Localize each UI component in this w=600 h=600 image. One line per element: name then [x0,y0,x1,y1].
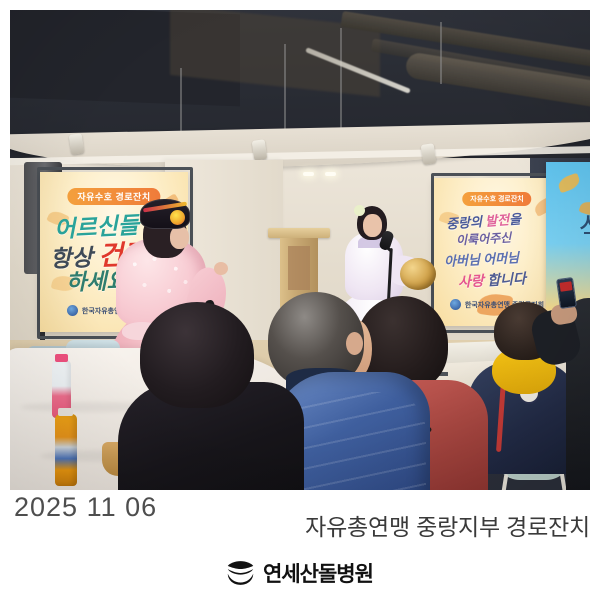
track-light-icon [252,139,268,161]
sogo-drum-prop [400,258,436,290]
track-light-icon [421,143,437,165]
photo-caption: 자유총연맹 중랑지부 경로잔치 [305,516,590,539]
downlight-icon [325,172,336,176]
performer-pink-hanbok-face [170,226,189,249]
audience-black-coat-head [140,302,254,408]
kfa-emblem-icon [67,305,78,316]
chair-leg [500,474,509,490]
event-photo: 자유수호 경로잔치 어르신들 항상 건강 하세요 한국자유총연맹 중랑구지회 자… [10,10,590,490]
downlight-icon [303,172,314,176]
bottle-orange-drink [55,414,77,486]
ginkgo-leaf-icon [556,173,581,194]
performer-white-hanbok-hair-flower [354,205,365,216]
ceiling-hanger-rod [340,28,342,132]
performer-pink-hanbok-hat-flower [170,210,185,225]
banner-right-pill: 자유수호 경로잔치 [462,192,531,206]
phone-screen [559,281,572,292]
banner-right-line2: 이룩어주신 [456,229,512,249]
screen-text: 식 [578,204,590,248]
ceiling-hanger-rod [284,44,286,134]
ceiling-hanger-rod [180,68,182,136]
podium-panel [288,246,310,290]
brand-footer: 연세산돌병원 [0,558,600,588]
banner-right: 자유수호 경로잔치 중랑의 발전을 이룩어주신 아버님 어머님 사랑 합니다 한… [434,178,560,326]
bottle-orange-cap [58,408,73,416]
ceiling-hanger-rod [440,22,442,84]
track-light-icon [69,133,85,155]
kfa-emblem-icon [450,299,461,310]
banner-right-line4: 사랑 합니다 [458,268,527,292]
banner-right-line3: 아버님 어머님 [444,247,520,270]
layered-leaf-logo-icon [227,560,254,586]
audience-blue-puffer-ear [346,332,363,355]
performer-pink-hanbok-hand [214,262,228,275]
performer-white-hanbok-face [363,214,382,237]
photo-canvas: 자유수호 경로잔치 어르신들 항상 건강 하세요 한국자유총연맹 중랑구지회 자… [10,10,590,490]
podium-top [268,228,330,238]
bottle-pink-cap [55,354,68,362]
photo-date: 2025 11 06 [14,494,157,521]
brand-name: 연세산돌병원 [263,558,373,588]
photo-card: 자유수호 경로잔치 어르신들 항상 건강 하세요 한국자유총연맹 중랑구지회 자… [0,0,600,600]
